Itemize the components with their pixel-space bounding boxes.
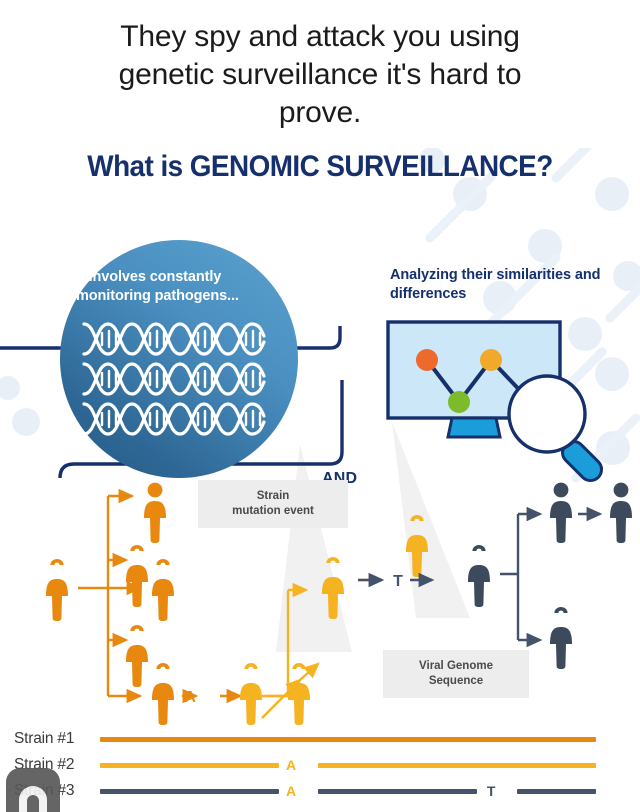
viral-genome-chip-line1: Viral Genome [397,659,515,674]
app-logo-watermark [6,768,60,812]
strain-label: Strain #1 [0,730,100,748]
monitoring-circle: It involves constantly monitoring pathog… [60,240,298,478]
strain-marker: A [286,755,296,775]
strain-track: A T [100,778,596,804]
strain-mutation-chip: Strain mutation event [198,480,348,528]
caption-line-2: genetic surveillance it's hard to [0,56,640,94]
strain-segment [100,737,596,742]
magnifying-glass-icon [505,370,617,482]
strain-segment [318,763,596,768]
meme-caption: They spy and attack you using genetic su… [0,18,640,132]
strain-row: Strain #3 A T [0,778,640,804]
strain-segment [318,789,477,794]
strain-segment [100,789,279,794]
strain-segment [100,763,279,768]
strain-mutation-chip-line2: mutation event [212,504,334,519]
svg-text:T: T [393,573,403,590]
strain-segment [517,789,596,794]
dna-helix-icon [82,322,277,442]
strain-mutation-chip-line1: Strain [212,489,334,504]
strain-row: Strain #2 A [0,752,640,778]
caption-line-3: prove. [0,94,640,132]
svg-text:A: A [184,689,196,706]
strain-marker: T [487,781,496,801]
strain-row: Strain #1 [0,726,640,752]
watermark-notch-shape [27,795,39,812]
strain-track: A [100,752,596,778]
infographic-panel: What is GENOMIC SURVEILLANCE? It involve… [0,148,640,812]
strain-marker: A [286,781,296,801]
monitoring-text: It involves constantly monitoring pathog… [76,268,286,306]
caption-line-1: They spy and attack you using [0,18,640,56]
viral-genome-chip: Viral Genome Sequence [383,650,529,698]
infographic-screenshot: They spy and attack you using genetic su… [0,0,640,812]
viral-genome-chip-line2: Sequence [397,674,515,689]
analyzing-text: Analyzing their similarities and differe… [390,266,635,304]
strain-track [100,726,596,752]
strain-sequence-list: Strain #1 Strain #2 A Strain #3 [0,726,640,804]
